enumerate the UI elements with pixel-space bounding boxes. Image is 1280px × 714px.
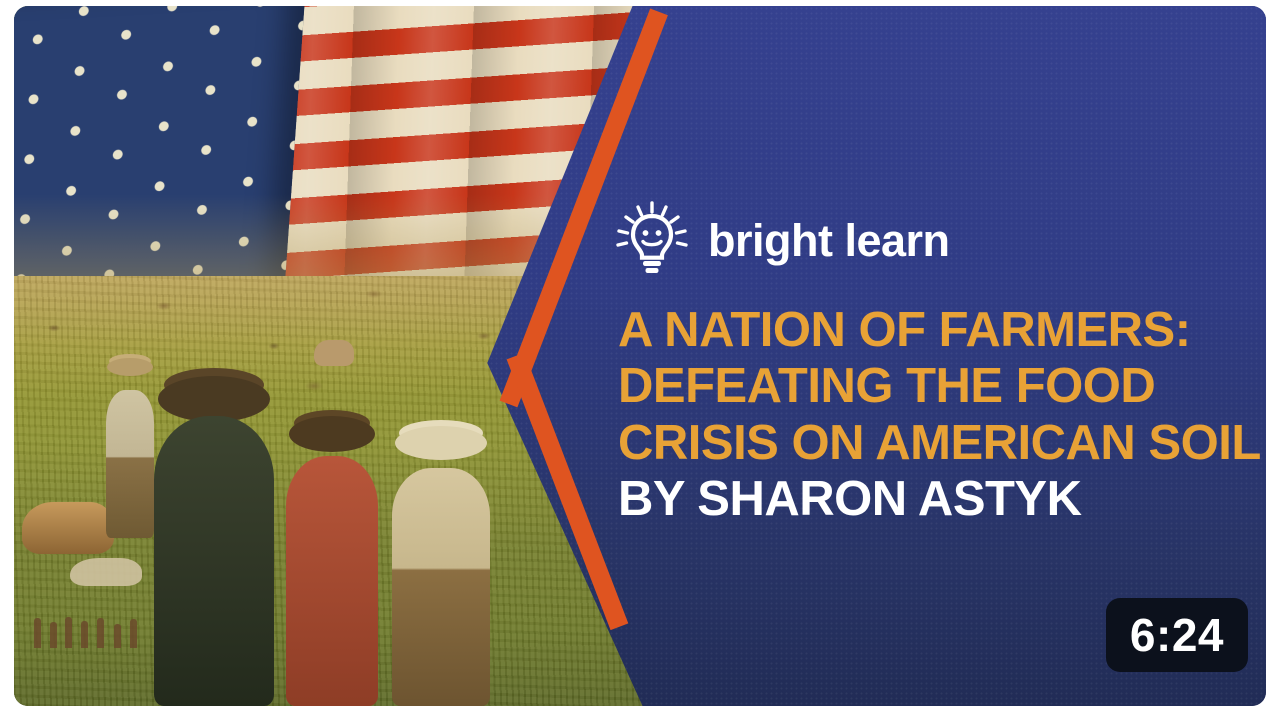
figure-body bbox=[106, 390, 154, 538]
hat-icon bbox=[289, 416, 375, 452]
farmer-figure-tan-shirt bbox=[392, 426, 490, 706]
sheep-silhouette bbox=[70, 558, 142, 586]
farmer-figure-green-cloak bbox=[154, 376, 274, 706]
brand-logo: bright learn bbox=[610, 198, 950, 282]
video-thumbnail[interactable]: bright learn A NATION OF FARMERS: DEFEAT… bbox=[14, 6, 1266, 706]
video-duration-badge: 6:24 bbox=[1106, 598, 1248, 672]
hat-icon bbox=[107, 358, 153, 376]
title-main-text: A NATION OF FARMERS: DEFEATING THE FOOD … bbox=[618, 303, 1191, 470]
farmer-figure-distant bbox=[106, 358, 154, 538]
figure-body bbox=[286, 456, 378, 706]
figure-body bbox=[392, 468, 490, 706]
cow-silhouette bbox=[22, 502, 114, 554]
figure-body bbox=[154, 416, 274, 706]
title-author-text: BY SHARON ASTYK bbox=[618, 472, 1082, 526]
brand-name: bright learn bbox=[708, 218, 950, 263]
hat-icon bbox=[395, 426, 487, 460]
horse-silhouette bbox=[314, 340, 354, 366]
lightbulb-smiley-icon bbox=[610, 198, 694, 282]
title-highlight-end: SOIL bbox=[1148, 416, 1259, 470]
farmer-figure-red-dress bbox=[286, 416, 378, 706]
thumbnail-title: A NATION OF FARMERS: DEFEATING THE FOOD … bbox=[618, 302, 1266, 527]
